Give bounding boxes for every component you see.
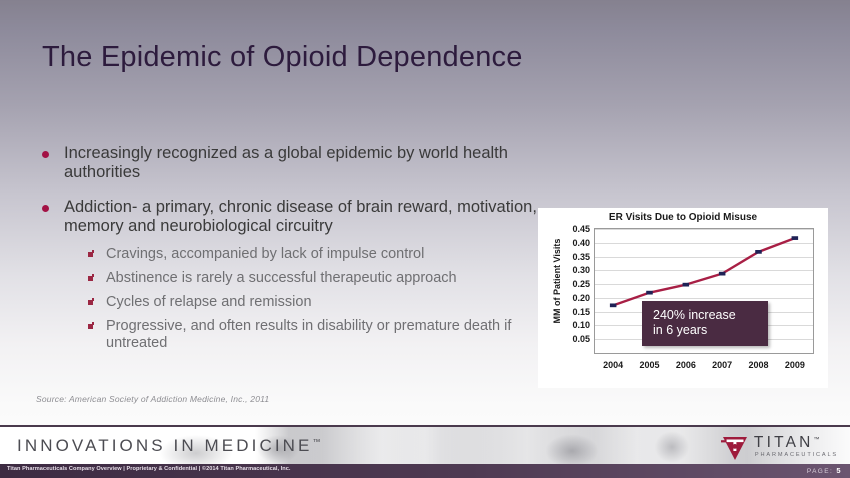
sub-bullet-item: Progressive, and often results in disabi… (86, 318, 558, 352)
sub-bullet-square-icon (88, 276, 93, 281)
chart-y-tick-label: 0.30 (572, 265, 590, 275)
titan-logo-text: TITAN™ PHARMACEUTICALS (754, 435, 838, 458)
titan-logo: TITAN™ PHARMACEUTICALS (721, 432, 838, 462)
sub-bullet-item: Cycles of relapse and remission (86, 294, 558, 311)
bullet-text: Increasingly recognized as a global epid… (64, 144, 558, 182)
page-title: The Epidemic of Opioid Dependence (42, 41, 523, 74)
chart-y-tick-label: 0.05 (572, 334, 590, 344)
sub-bullet-square-icon (88, 300, 93, 305)
chart-x-tick-label: 2005 (639, 360, 659, 370)
chart-y-axis-label: MM of Patient Visits (552, 226, 562, 336)
sub-bullet-text: Progressive, and often results in disabi… (106, 318, 558, 352)
bullet-item-1: Increasingly recognized as a global epid… (38, 144, 558, 182)
footer-tagline-text: INNOVATIONS IN MEDICINE (17, 436, 312, 455)
chart-y-tick-label: 0.45 (572, 224, 590, 234)
sub-bullet-text: Cycles of relapse and remission (106, 294, 558, 311)
sub-bullet-square-icon (88, 252, 93, 257)
page-number: 5 (836, 466, 842, 475)
chart-x-tick-label: 2009 (785, 360, 805, 370)
bullet-dot-icon (42, 151, 49, 158)
chart-x-tick-label: 2008 (748, 360, 768, 370)
source-note: Source: American Society of Addiction Me… (36, 394, 269, 404)
chart-er-visits: ER Visits Due to Opioid Misuse MM of Pat… (538, 208, 828, 388)
chart-y-tick-label: 0.35 (572, 252, 590, 262)
sub-bullet-text: Abstinence is rarely a successful therap… (106, 270, 558, 287)
sub-bullet-item: Abstinence is rarely a successful therap… (86, 270, 558, 287)
sub-bullet-item: Cravings, accompanied by lack of impulse… (86, 246, 558, 263)
slide-footer: INNOVATIONS IN MEDICINE™ TITAN™ PHARMACE… (0, 425, 850, 478)
chart-x-tick-label: 2007 (712, 360, 732, 370)
chart-y-tick-label: 0.25 (572, 279, 590, 289)
page-label: PAGE: (807, 468, 833, 475)
titan-logo-mark-icon (721, 434, 749, 461)
bullet-list: Increasingly recognized as a global epid… (38, 144, 558, 368)
chart-x-tick-label: 2004 (603, 360, 623, 370)
callout-line-2: in 6 years (653, 323, 759, 338)
bullet-dot-icon (42, 205, 49, 212)
trademark-icon: ™ (312, 437, 320, 446)
slide-canvas: The Epidemic of Opioid Dependence Increa… (0, 0, 850, 478)
titan-logo-word: TITAN (754, 434, 814, 451)
page-indicator: PAGE: 5 (807, 466, 842, 475)
sub-bullet-square-icon (88, 324, 93, 329)
footer-bar: Titan Pharmaceuticals Company Overview |… (0, 464, 850, 478)
bullet-item-2: Addiction- a primary, chronic disease of… (38, 198, 558, 352)
sub-bullet-text: Cravings, accompanied by lack of impulse… (106, 246, 558, 263)
chart-title: ER Visits Due to Opioid Misuse (538, 212, 828, 223)
footer-tagline: INNOVATIONS IN MEDICINE™ (17, 436, 320, 456)
footer-copyright: Titan Pharmaceuticals Company Overview |… (7, 466, 291, 472)
chart-annotation-callout: 240% increase in 6 years (642, 301, 768, 346)
bullet-text: Addiction- a primary, chronic disease of… (64, 198, 558, 236)
chart-x-tick-label: 2006 (676, 360, 696, 370)
titan-logo-wordmark: TITAN™ (754, 435, 838, 451)
sub-bullet-list: Cravings, accompanied by lack of impulse… (64, 246, 558, 352)
chart-y-tick-label: 0.40 (572, 238, 590, 248)
callout-line-1: 240% increase (653, 308, 759, 323)
chart-y-tick-label: 0.15 (572, 307, 590, 317)
chart-y-tick-label: 0.10 (572, 320, 590, 330)
footer-banner: INNOVATIONS IN MEDICINE™ TITAN™ PHARMACE… (0, 425, 850, 466)
titan-logo-subtitle: PHARMACEUTICALS (754, 453, 838, 459)
logo-trademark-icon: ™ (814, 437, 820, 443)
chart-y-tick-label: 0.20 (572, 293, 590, 303)
